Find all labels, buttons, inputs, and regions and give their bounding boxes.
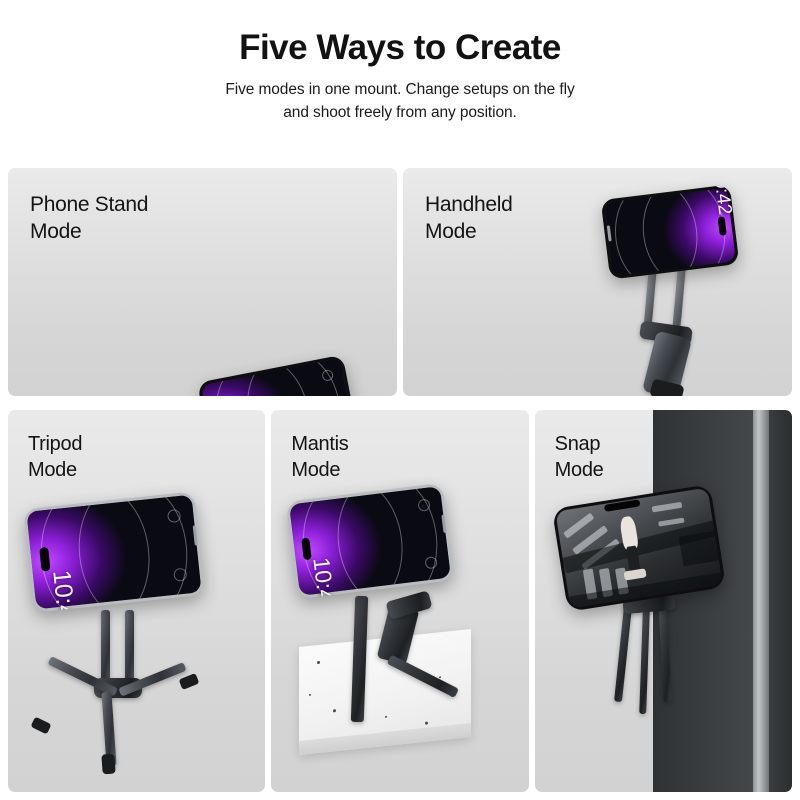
mode-card-label: Snap Mode: [555, 432, 604, 483]
phone-clock: 10:42: [710, 184, 735, 215]
mode-card-label: Handheld Mode: [425, 192, 513, 246]
phone-device: 10:42: [601, 184, 740, 279]
tripod-foot-left: [30, 717, 51, 735]
phone-clock: 10:42: [48, 569, 79, 613]
mode-card-label: Mantis Mode: [291, 432, 348, 483]
mode-card-mantis[interactable]: Mantis Mode 10:42: [271, 410, 528, 792]
header: Five Ways to Create Five modes in one mo…: [0, 0, 800, 124]
phone-device: 10:42: [23, 491, 205, 612]
mode-grid-bottom-row: Tripod Mode 10:42 Mantis Mode: [8, 410, 792, 792]
page-subtitle: Five modes in one mount. Change setups o…: [0, 79, 800, 124]
snap-arm-center: [639, 610, 650, 714]
mode-card-label: Phone Stand Mode: [30, 192, 148, 246]
snap-arm-left: [614, 606, 632, 702]
mode-card-label: Tripod Mode: [28, 432, 82, 483]
tripod-foot-front: [101, 754, 115, 775]
phone-side-button: [442, 515, 447, 533]
phone-device: 10:42: [286, 483, 455, 600]
tripod-foot-right: [179, 673, 200, 690]
subtitle-line-1: Five modes in one mount. Change setups o…: [0, 79, 800, 101]
phone-device: 10:42: [197, 355, 359, 396]
subtitle-line-2: and shoot freely from any position.: [0, 102, 800, 124]
mode-card-snap[interactable]: Snap Mode: [535, 410, 792, 792]
mode-card-tripod[interactable]: Tripod Mode 10:42: [8, 410, 265, 792]
mode-grid-top-row: Phone Stand Mode 10:42 Handheld Mode: [8, 168, 792, 396]
mode-card-handheld[interactable]: Handheld Mode 10:42: [403, 168, 792, 396]
mode-card-phone-stand[interactable]: Phone Stand Mode 10:42: [8, 168, 397, 396]
phone-clock: 10:42: [310, 556, 340, 599]
page-title: Five Ways to Create: [0, 28, 800, 68]
wall-edge-strip: [753, 410, 769, 792]
